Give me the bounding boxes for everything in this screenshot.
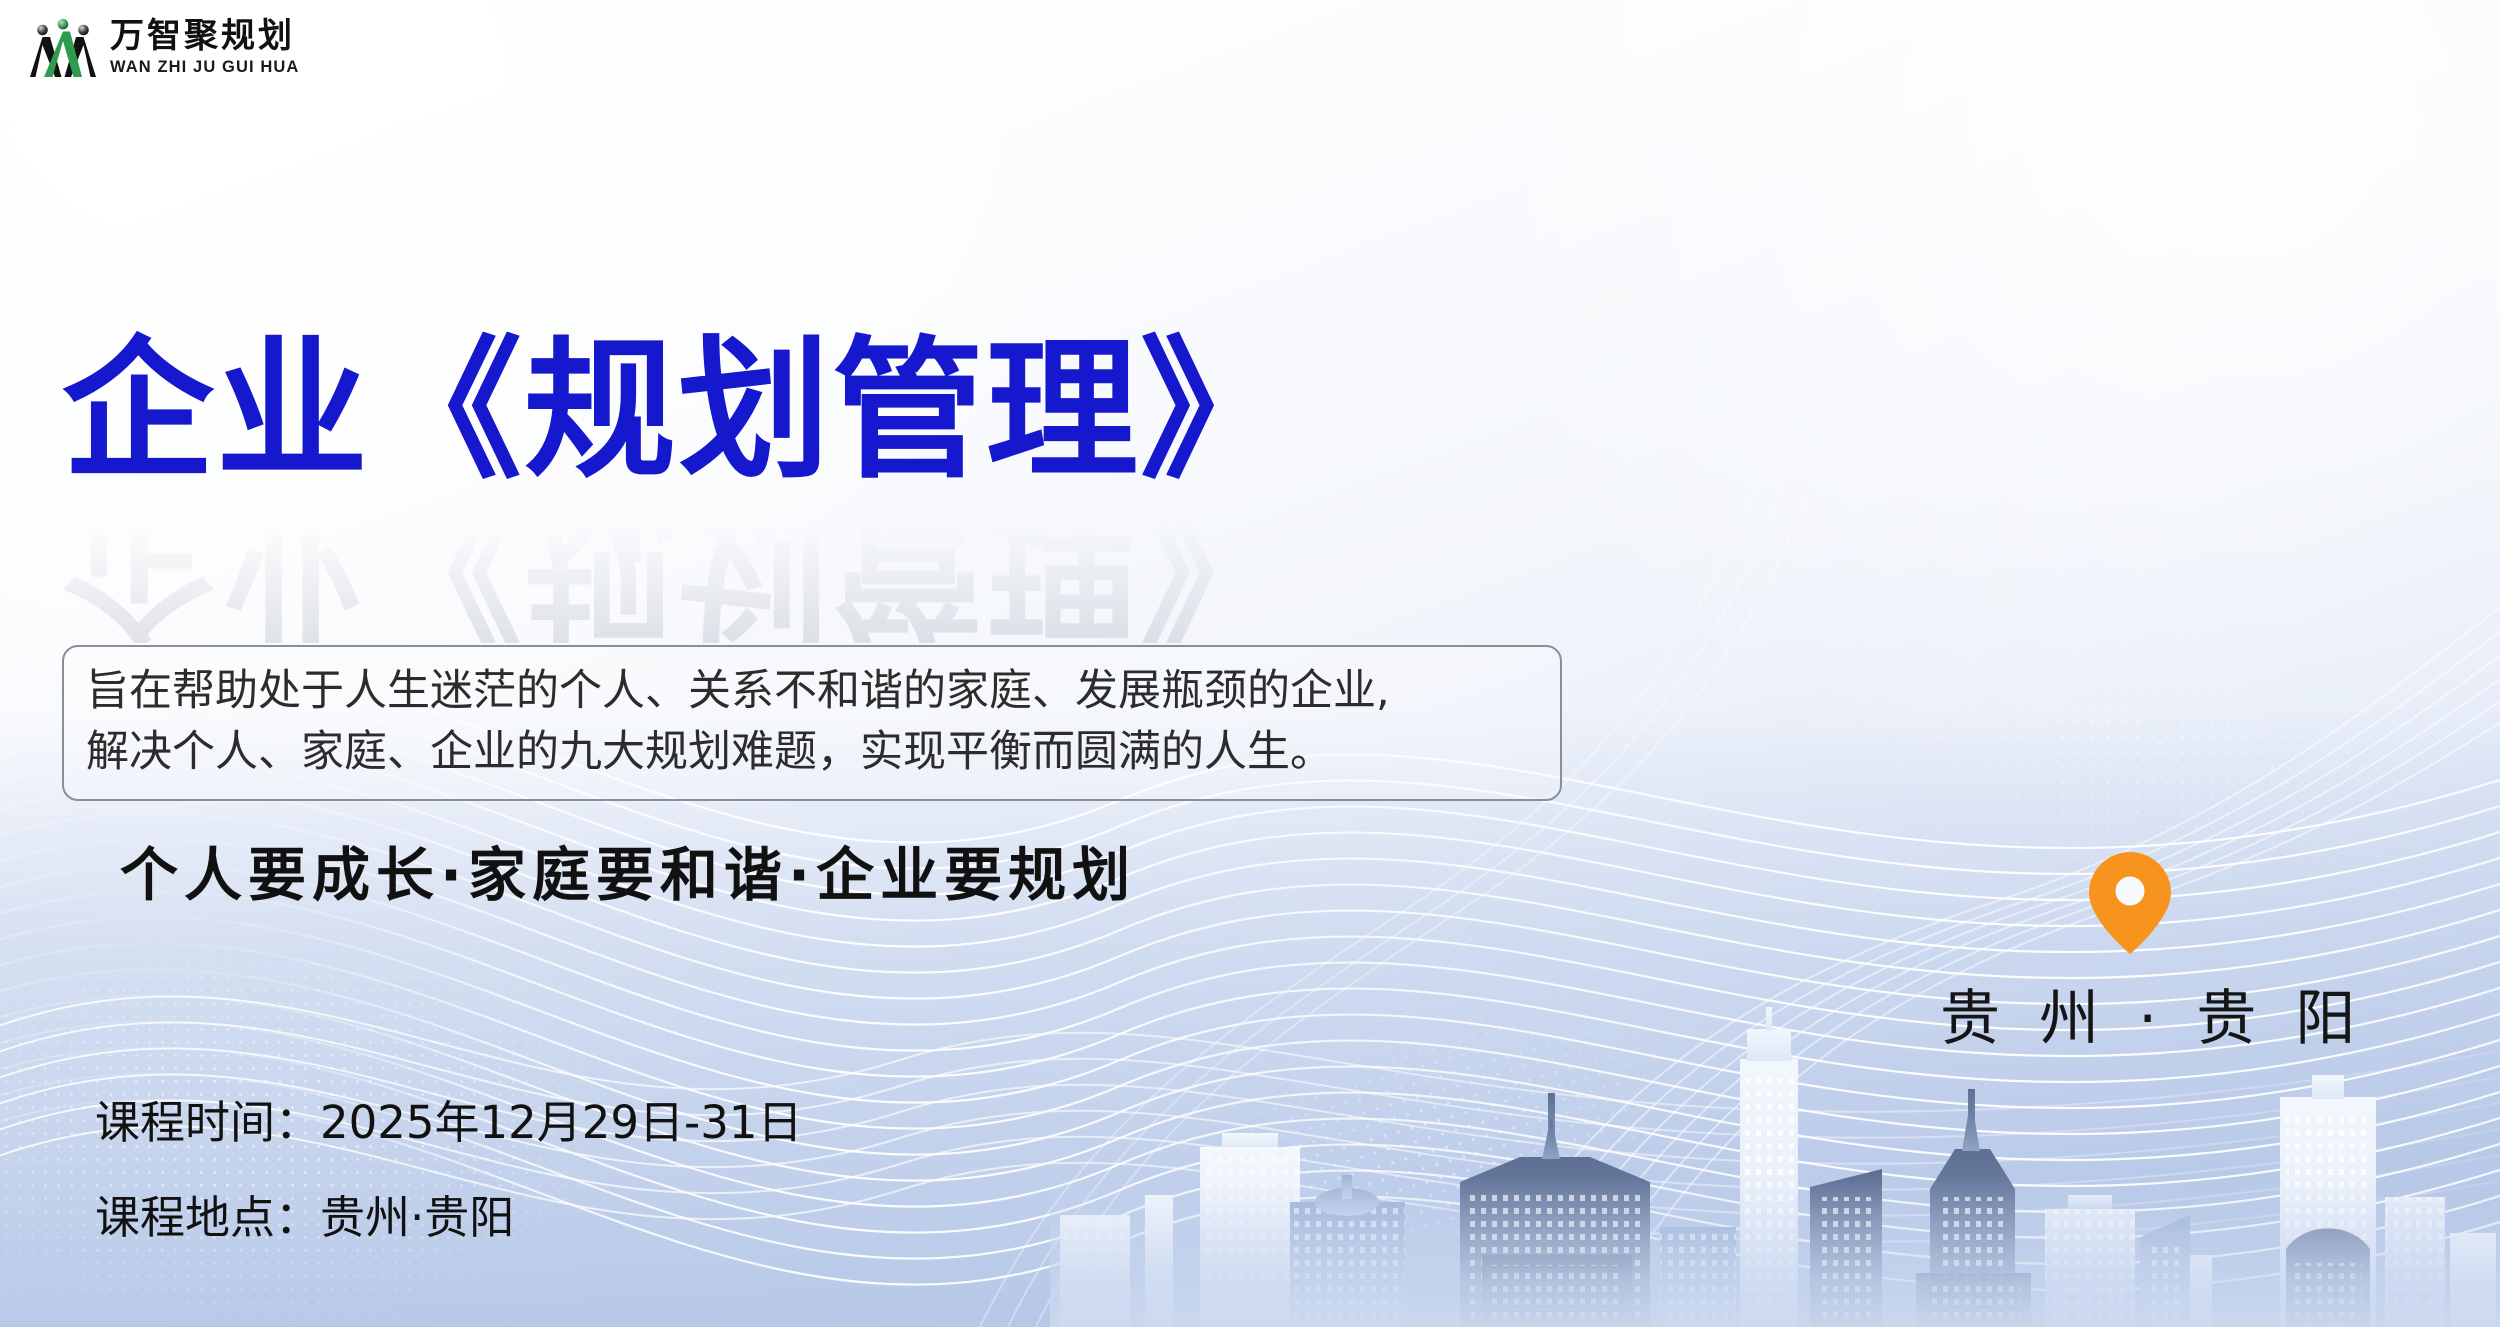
hero-title-block: 企业《规划管理》 企业《规划管理》 (62, 335, 1622, 643)
course-info-block: 课程时间：2025年12月29日-31日 课程地点：贵州·贵阳 (95, 1100, 803, 1240)
location-block: 贵 州 · 贵 阳 (1940, 850, 2320, 1057)
brand-name-cn: 万智聚规划 (110, 19, 299, 55)
promo-banner: 万智聚规划 WAN ZHI JU GUI HUA 企业《规划管理》 企业《规划管… (0, 0, 2500, 1327)
description-line-1: 旨在帮助处于人生迷茫的个人、关系不和谐的家庭、发展瓶颈的企业, (86, 661, 1538, 722)
description-line-2: 解决个人、家庭、企业的九大规划难题，实现平衡而圆满的人生。 (86, 722, 1538, 783)
brand-name-pinyin: WAN ZHI JU GUI HUA (110, 58, 299, 77)
three-people-m-logo-icon (30, 16, 96, 80)
location-label: 贵 州 · 贵 阳 (1940, 970, 2320, 1057)
course-venue: 课程地点：贵州·贵阳 (95, 1195, 803, 1240)
page-title-reflection: 企业《规划管理》 (62, 491, 1622, 643)
dot-matrix-texture-center (1086, 890, 1855, 1327)
skyline-bottom-fade (1050, 1177, 2500, 1327)
map-pin-icon (2087, 850, 2173, 956)
course-date: 课程时间：2025年12月29日-31日 (95, 1100, 803, 1145)
page-title: 企业《规划管理》 (62, 335, 1622, 487)
hero-tagline: 个人要成长·家庭要和谐·企业要规划 (120, 828, 1136, 912)
description-box: 旨在帮助处于人生迷茫的个人、关系不和谐的家庭、发展瓶颈的企业, 解决个人、家庭、… (62, 645, 1562, 801)
brand-logo: 万智聚规划 WAN ZHI JU GUI HUA (30, 16, 299, 80)
